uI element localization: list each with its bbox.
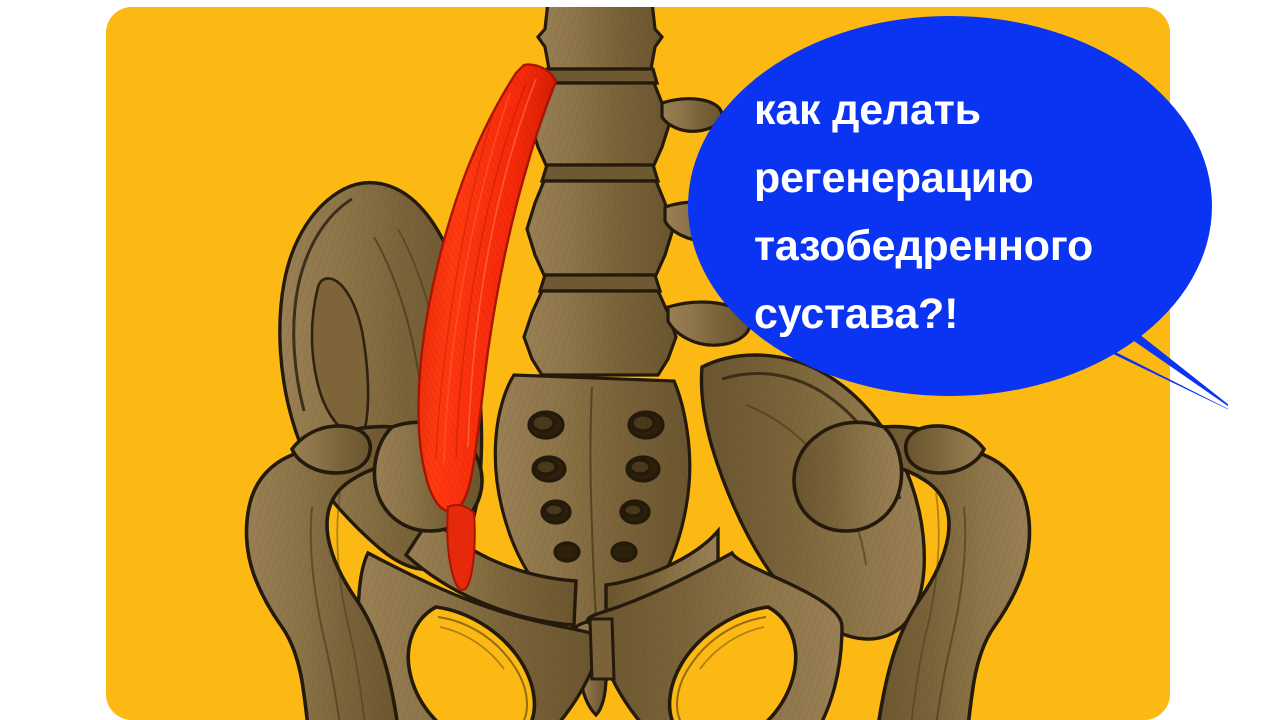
bubble-line-4: сустава?! (754, 280, 1206, 348)
speech-bubble-text: как делать регенерацию тазобедренного су… (754, 76, 1206, 348)
bubble-line-3: тазобедренного (754, 212, 1206, 280)
thumbnail-canvas: как делать регенерацию тазобедренного су… (0, 0, 1280, 720)
bubble-line-1: как делать (754, 76, 1206, 144)
bubble-line-2: регенерацию (754, 144, 1206, 212)
